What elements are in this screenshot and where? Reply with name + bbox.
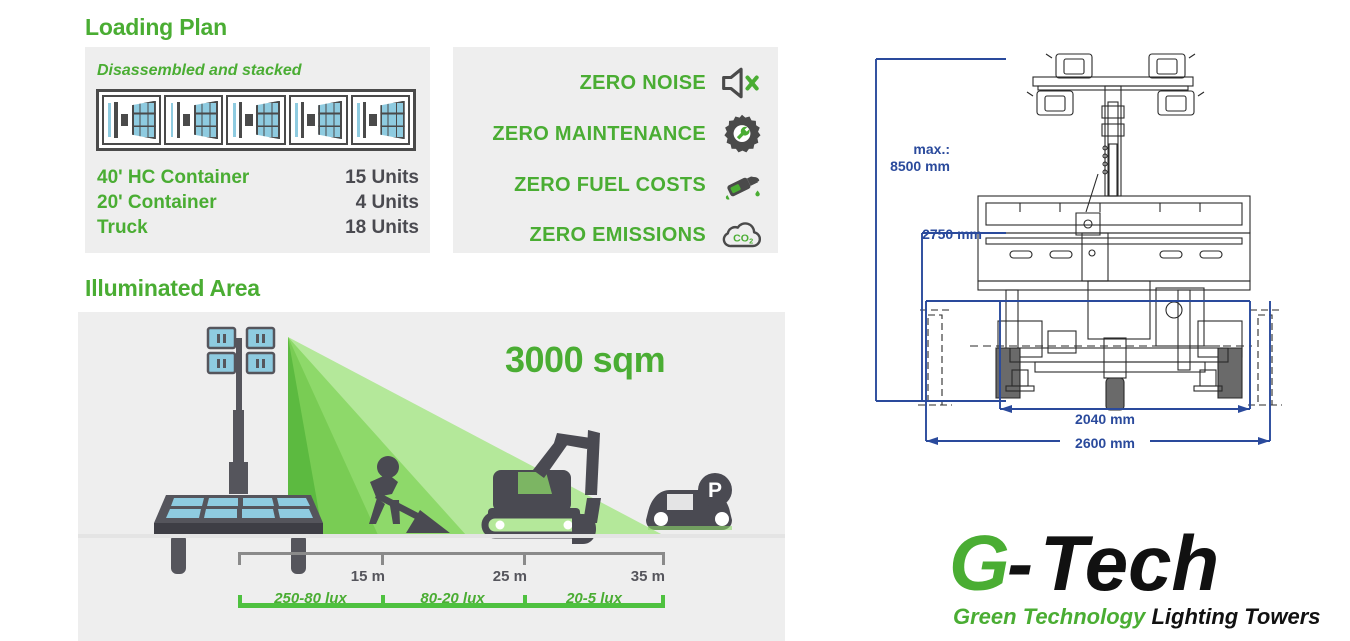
lux-band-250-80: 250-80 lux [238, 590, 383, 607]
container-mast-icon [301, 102, 304, 139]
lux-band-80-20: 80-20 lux [381, 590, 524, 607]
container-post-icon [295, 103, 298, 137]
loading-plan-table: 40' HC Container 15 Units 20' Container … [97, 165, 419, 240]
row-value: 4 Units [356, 190, 419, 215]
company-logo: G - Tech Green Technology Lighting Tower… [945, 528, 1305, 633]
technical-drawing [860, 48, 1310, 473]
zero-feature-label: ZERO NOISE [580, 72, 706, 95]
lux-band-20-5: 20-5 lux [523, 590, 665, 607]
container-mast-icon [114, 102, 117, 139]
loading-plan-panel: Disassembled and stacked [85, 47, 430, 253]
container-icon [226, 95, 285, 145]
dimension-width-outer: 2600 mm [1060, 435, 1150, 451]
parked-car-icon: P [646, 473, 732, 530]
container-icon [351, 95, 410, 145]
row-label: Truck [97, 215, 148, 240]
light-cone-graphic [288, 337, 663, 535]
row-label: 20' Container [97, 190, 217, 215]
ground-line [78, 534, 785, 538]
table-row: Truck 18 Units [97, 215, 419, 240]
illuminated-area-title: Illuminated Area [85, 275, 260, 302]
table-row: 20' Container 4 Units [97, 190, 419, 215]
container-stack-graphic [96, 89, 416, 151]
container-block-icon [307, 114, 315, 125]
zero-feature-emissions: ZERO EMISSIONS CO 2 [530, 213, 764, 257]
container-mast-icon [177, 102, 180, 139]
illuminated-area-panel: 3000 sqm [78, 312, 785, 641]
container-icon [164, 95, 223, 145]
tagline-green: Green Technology [953, 604, 1145, 629]
speaker-mute-icon [720, 61, 764, 105]
logo-tagline: Green Technology Lighting Towers [953, 604, 1298, 630]
tagline-black: Lighting Towers [1151, 604, 1320, 629]
svg-text:CO: CO [733, 232, 749, 244]
loading-plan-title: Loading Plan [85, 14, 227, 41]
container-block-icon [183, 114, 191, 125]
dimension-lines [876, 59, 1270, 441]
gear-wrench-icon [720, 112, 764, 156]
dimension-height-transport: 2750 mm [910, 226, 982, 242]
container-mast-icon [363, 102, 366, 139]
loading-plan-subtitle: Disassembled and stacked [97, 62, 302, 80]
distance-tick-25m: 25 m [465, 568, 527, 585]
zero-features-panel: ZERO NOISE ZERO MAINTENANCE ZERO FUEL CO… [453, 47, 778, 253]
container-post-icon [357, 103, 360, 137]
logo-word-tech: Tech [1040, 528, 1219, 607]
container-icon [289, 95, 348, 145]
distance-tick-15m: 15 m [323, 568, 385, 585]
distance-tick-35m: 35 m [603, 568, 665, 585]
gtech-wordmark: G - Tech [945, 528, 1305, 608]
zero-feature-label: ZERO EMISSIONS [530, 224, 706, 247]
svg-text:2: 2 [749, 237, 753, 246]
solar-panel-icon [318, 101, 342, 140]
zero-feature-maintenance: ZERO MAINTENANCE [492, 112, 764, 156]
container-post-icon [108, 103, 111, 137]
fuel-nozzle-icon [720, 163, 764, 207]
solar-panel-icon [380, 101, 404, 140]
logo-letter-g: G [949, 528, 1010, 607]
svg-text:P: P [708, 479, 722, 502]
dimension-value: 8500 mm [880, 158, 950, 175]
zero-feature-label: ZERO MAINTENANCE [492, 123, 706, 146]
solar-panel-icon [256, 101, 280, 140]
solar-panel-icon [194, 101, 218, 140]
logo-separator: - [1007, 528, 1033, 607]
row-value: 18 Units [345, 215, 419, 240]
container-block-icon [245, 114, 253, 125]
dimension-width-inner: 2040 mm [1060, 411, 1150, 427]
zero-feature-fuel: ZERO FUEL COSTS [514, 163, 764, 207]
container-block-icon [369, 114, 377, 125]
dimension-height-max: max.: 8500 mm [880, 141, 950, 175]
container-post-icon [233, 103, 236, 137]
row-value: 15 Units [345, 165, 419, 190]
zero-feature-label: ZERO FUEL COSTS [514, 174, 706, 197]
zero-feature-noise: ZERO NOISE [580, 61, 764, 105]
container-icon [102, 95, 161, 145]
container-block-icon [121, 114, 129, 125]
container-post-icon [171, 103, 174, 137]
dimension-prefix: max.: [880, 141, 950, 158]
solar-panel-icon [132, 101, 156, 140]
container-mast-icon [239, 102, 242, 139]
table-row: 40' HC Container 15 Units [97, 165, 419, 190]
co2-cloud-icon: CO 2 [720, 213, 764, 257]
row-label: 40' HC Container [97, 165, 249, 190]
